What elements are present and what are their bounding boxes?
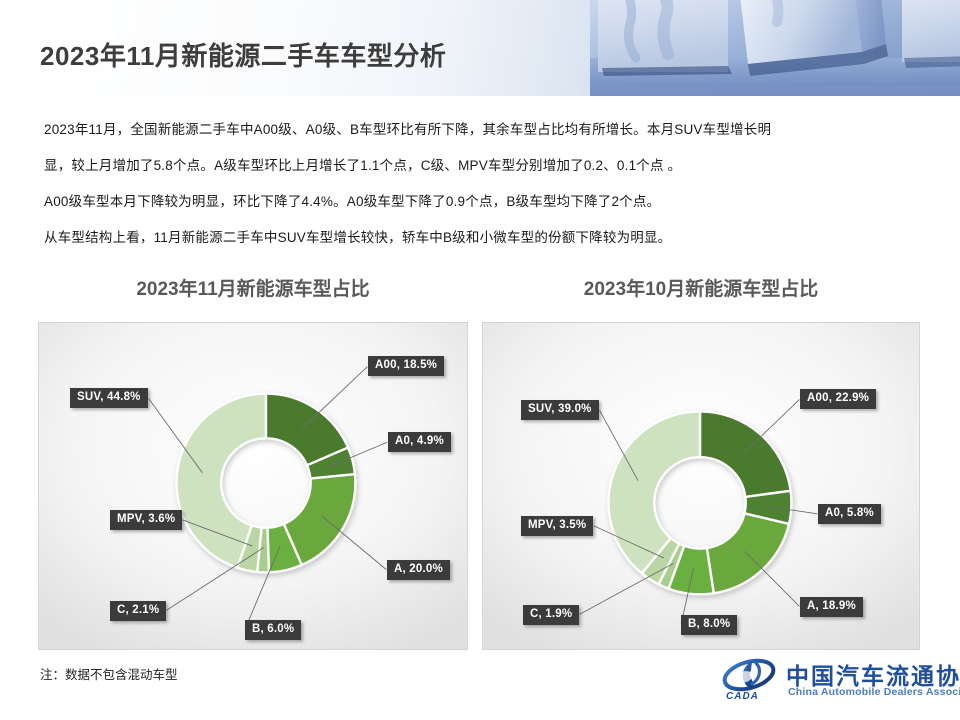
callout-right-b: B, 8.0% [681, 615, 737, 635]
organization-logo: CADA 中国汽车流通协会 China Automobile Dealers A… [722, 655, 942, 709]
chart-title-october: 2023年10月新能源车型占比 [482, 274, 920, 301]
callout-left-b: B, 6.0% [245, 620, 301, 640]
logo-name-en: China Automobile Dealers Association [788, 686, 960, 698]
paragraph-3: A00级车型本月下降较为明显，环比下降了4.4%。A0级车型下降了0.9个点，B… [44, 184, 920, 220]
callout-left-suv: SUV, 44.8% [70, 388, 148, 408]
page-header: 2023年11月新能源二手车车型分析 [0, 0, 960, 96]
callout-right-suv: SUV, 39.0% [521, 400, 599, 420]
callout-right-a00: A00, 22.9% [800, 389, 876, 409]
paragraph-1: 2023年11月，全国新能源二手车中A00级、A0级、B车型环比有所下降，其余车… [44, 112, 920, 148]
paragraph-2: 显，较上月增加了5.8个点。A级车型环比上月增长了1.1个点，C级、MPV车型分… [44, 148, 920, 184]
callout-right-a0: A0, 5.8% [818, 504, 881, 524]
callout-left-a0: A0, 4.9% [388, 432, 451, 452]
callout-right-a: A, 18.9% [800, 597, 863, 617]
callout-left-a: A, 20.0% [387, 560, 450, 580]
chart-title-november: 2023年11月新能源车型占比 [38, 274, 468, 301]
callout-left-mpv: MPV, 3.6% [110, 510, 182, 530]
blue-cubes-world-map-icon [590, 0, 960, 96]
callout-left-c: C, 2.1% [110, 601, 166, 621]
paragraph-4: 从车型结构上看，11月新能源二手车中SUV车型增长较快，轿车中B级和小微车型的份… [44, 220, 920, 256]
callout-right-mpv: MPV, 3.5% [521, 516, 593, 536]
callout-right-c: C, 1.9% [523, 605, 579, 625]
logo-abbrev: CADA [726, 691, 759, 702]
header-decoration-image [590, 0, 960, 96]
callout-left-a00: A00, 18.5% [368, 356, 444, 376]
footnote: 注：数据不包含混动车型 [40, 664, 178, 683]
intro-text-block: 2023年11月，全国新能源二手车中A00级、A0级、B车型环比有所下降，其余车… [44, 112, 920, 256]
page-title: 2023年11月新能源二手车车型分析 [40, 36, 446, 73]
